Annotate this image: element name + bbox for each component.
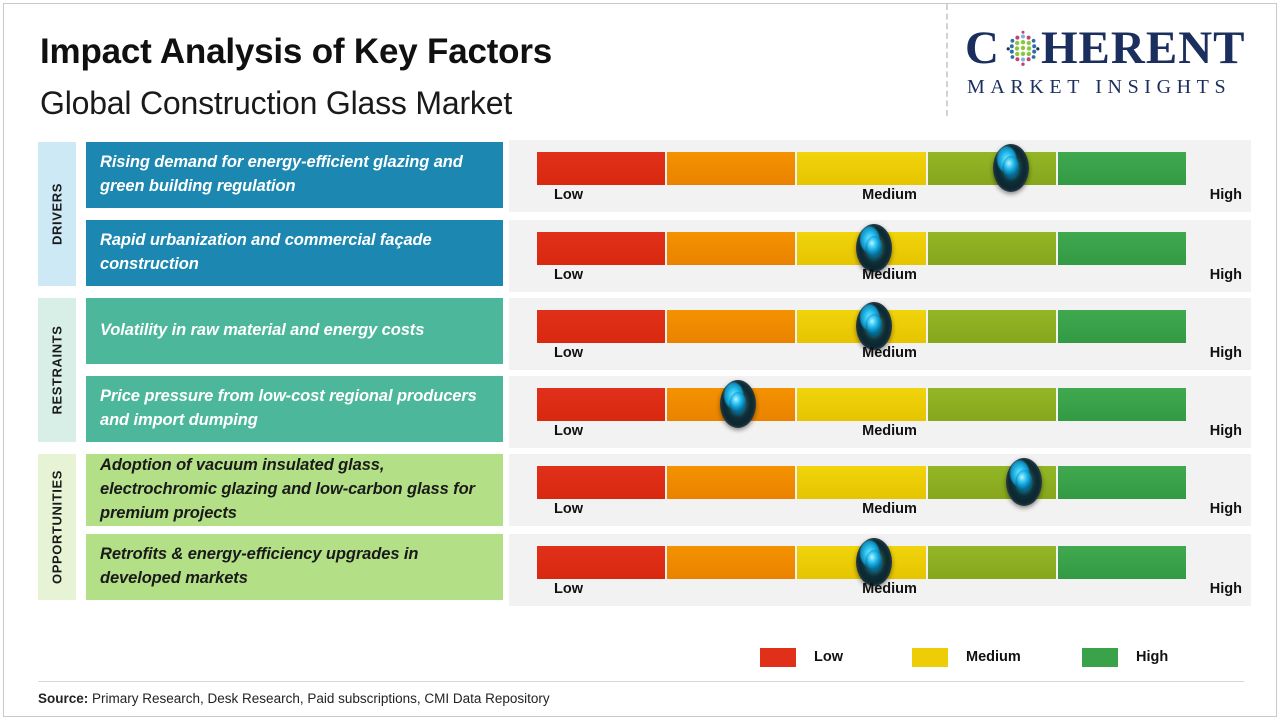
impact-marker (856, 224, 892, 272)
header-divider (946, 4, 948, 116)
gauge-segment-1 (537, 310, 665, 343)
gauge-label-high: High (1210, 423, 1242, 439)
gauge-label-high: High (1210, 267, 1242, 283)
gauge-segment-5 (1058, 310, 1186, 343)
gauge-label-medium: Medium (862, 581, 917, 597)
legend-label-medium: Medium (966, 649, 1021, 665)
gauge-label-low: Low (554, 581, 583, 597)
category-tab-opportunities: OPPORTUNITIES (38, 454, 76, 600)
impact-marker (856, 302, 892, 350)
impact-gauge: Low Medium High (509, 454, 1251, 526)
footer-divider (38, 681, 1244, 682)
impact-marker (720, 380, 756, 428)
factor-text: Rapid urbanization and commercial façade… (100, 229, 489, 277)
gauge-segment-1 (537, 388, 665, 421)
factor-box: Volatility in raw material and energy co… (86, 298, 503, 364)
impact-marker (1006, 458, 1042, 506)
gauge-segment-5 (1058, 546, 1186, 579)
gauge-segment-2 (667, 546, 795, 579)
factor-box: Rapid urbanization and commercial façade… (86, 220, 503, 286)
legend-item-high: High (1082, 644, 1168, 670)
gauge-segment-4 (928, 388, 1056, 421)
gauge-segment-4 (928, 310, 1056, 343)
factor-text: Rising demand for energy-efficient glazi… (100, 151, 489, 199)
impact-gauge: Low Medium High (509, 140, 1251, 212)
gauge-segment-2 (667, 466, 795, 499)
category-label-restraints: RESTRAINTS (50, 325, 65, 414)
gauge-scale-labels: Low Medium High (537, 501, 1242, 523)
factor-text: Adoption of vacuum insulated glass, elec… (100, 454, 489, 526)
legend-label-high: High (1136, 649, 1168, 665)
legend-swatch-low (760, 648, 796, 667)
gauge-label-low: Low (554, 345, 583, 361)
gauge-segment-2 (667, 310, 795, 343)
logo-tagline: MARKET INSIGHTS (967, 76, 1231, 99)
globe-icon (1003, 29, 1043, 69)
impact-gauge: Low Medium High (509, 298, 1251, 370)
gauge-scale-labels: Low Medium High (537, 267, 1242, 289)
gauge-label-high: High (1210, 345, 1242, 361)
legend-item-medium: Medium (912, 644, 1021, 670)
gauge-label-high: High (1210, 187, 1242, 203)
category-label-drivers: DRIVERS (50, 183, 65, 245)
gauge-segment-4 (928, 546, 1056, 579)
gauge-label-medium: Medium (862, 345, 917, 361)
gauge-label-medium: Medium (862, 187, 917, 203)
gauge-segment-5 (1058, 232, 1186, 265)
legend-label-low: Low (814, 649, 843, 665)
gauge-label-low: Low (554, 501, 583, 517)
gauge-label-medium: Medium (862, 423, 917, 439)
impact-gauge: Low Medium High (509, 534, 1251, 606)
gauge-label-low: Low (554, 187, 583, 203)
factor-text: Volatility in raw material and energy co… (100, 319, 424, 343)
legend-swatch-medium (912, 648, 948, 667)
page-title: Impact Analysis of Key Factors (40, 32, 552, 72)
source-text: Primary Research, Desk Research, Paid su… (88, 691, 549, 706)
category-label-opportunities: OPPORTUNITIES (50, 470, 65, 584)
impact-marker (856, 538, 892, 586)
gauge-segment-1 (537, 232, 665, 265)
gauge-segment-5 (1058, 152, 1186, 185)
legend-swatch-high (1082, 648, 1118, 667)
category-tab-restraints: RESTRAINTS (38, 298, 76, 442)
factor-box: Retrofits & energy-efficiency upgrades i… (86, 534, 503, 600)
gauge-label-high: High (1210, 501, 1242, 517)
gauge-segment-2 (667, 232, 795, 265)
gauge-scale-labels: Low Medium High (537, 345, 1242, 367)
gauge-scale-labels: Low Medium High (537, 423, 1242, 445)
gauge-segment-3 (797, 152, 925, 185)
logo-word-rest: HERENT (1041, 22, 1246, 74)
page-subtitle: Global Construction Glass Market (40, 85, 512, 122)
gauge-segment-1 (537, 152, 665, 185)
legend: Low Medium High (760, 644, 1200, 670)
gauge-segment-4 (928, 152, 1056, 185)
factor-box: Adoption of vacuum insulated glass, elec… (86, 454, 503, 526)
legend-item-low: Low (760, 644, 843, 670)
gauge-bar (537, 466, 1186, 499)
header: Impact Analysis of Key Factors Global Co… (0, 0, 1280, 130)
factor-box: Rising demand for energy-efficient glazi… (86, 142, 503, 208)
gauge-label-low: Low (554, 423, 583, 439)
gauge-segment-3 (797, 388, 925, 421)
impact-marker (993, 144, 1029, 192)
gauge-segment-2 (667, 152, 795, 185)
gauge-segment-5 (1058, 466, 1186, 499)
gauge-segment-1 (537, 546, 665, 579)
gauge-segment-3 (797, 466, 925, 499)
source-note: Source: Primary Research, Desk Research,… (38, 691, 550, 706)
factor-text: Price pressure from low-cost regional pr… (100, 385, 489, 433)
impact-gauge: Low Medium High (509, 376, 1251, 448)
coherent-market-insights-logo: C HERENT (963, 22, 1263, 102)
gauge-bar (537, 388, 1186, 421)
gauge-label-medium: Medium (862, 501, 917, 517)
factor-box: Price pressure from low-cost regional pr… (86, 376, 503, 442)
gauge-segment-1 (537, 466, 665, 499)
category-tab-drivers: DRIVERS (38, 142, 76, 286)
gauge-label-high: High (1210, 581, 1242, 597)
factor-text: Retrofits & energy-efficiency upgrades i… (100, 543, 489, 591)
gauge-segment-5 (1058, 388, 1186, 421)
impact-gauge: Low Medium High (509, 220, 1251, 292)
gauge-segment-4 (928, 232, 1056, 265)
logo-letter-c: C (965, 22, 1000, 74)
impact-matrix: DRIVERS RESTRAINTS OPPORTUNITIES Rising … (0, 132, 1280, 618)
source-label: Source: (38, 691, 88, 706)
gauge-bar (537, 152, 1186, 185)
gauge-scale-labels: Low Medium High (537, 581, 1242, 603)
gauge-scale-labels: Low Medium High (537, 187, 1242, 209)
gauge-label-medium: Medium (862, 267, 917, 283)
gauge-label-low: Low (554, 267, 583, 283)
